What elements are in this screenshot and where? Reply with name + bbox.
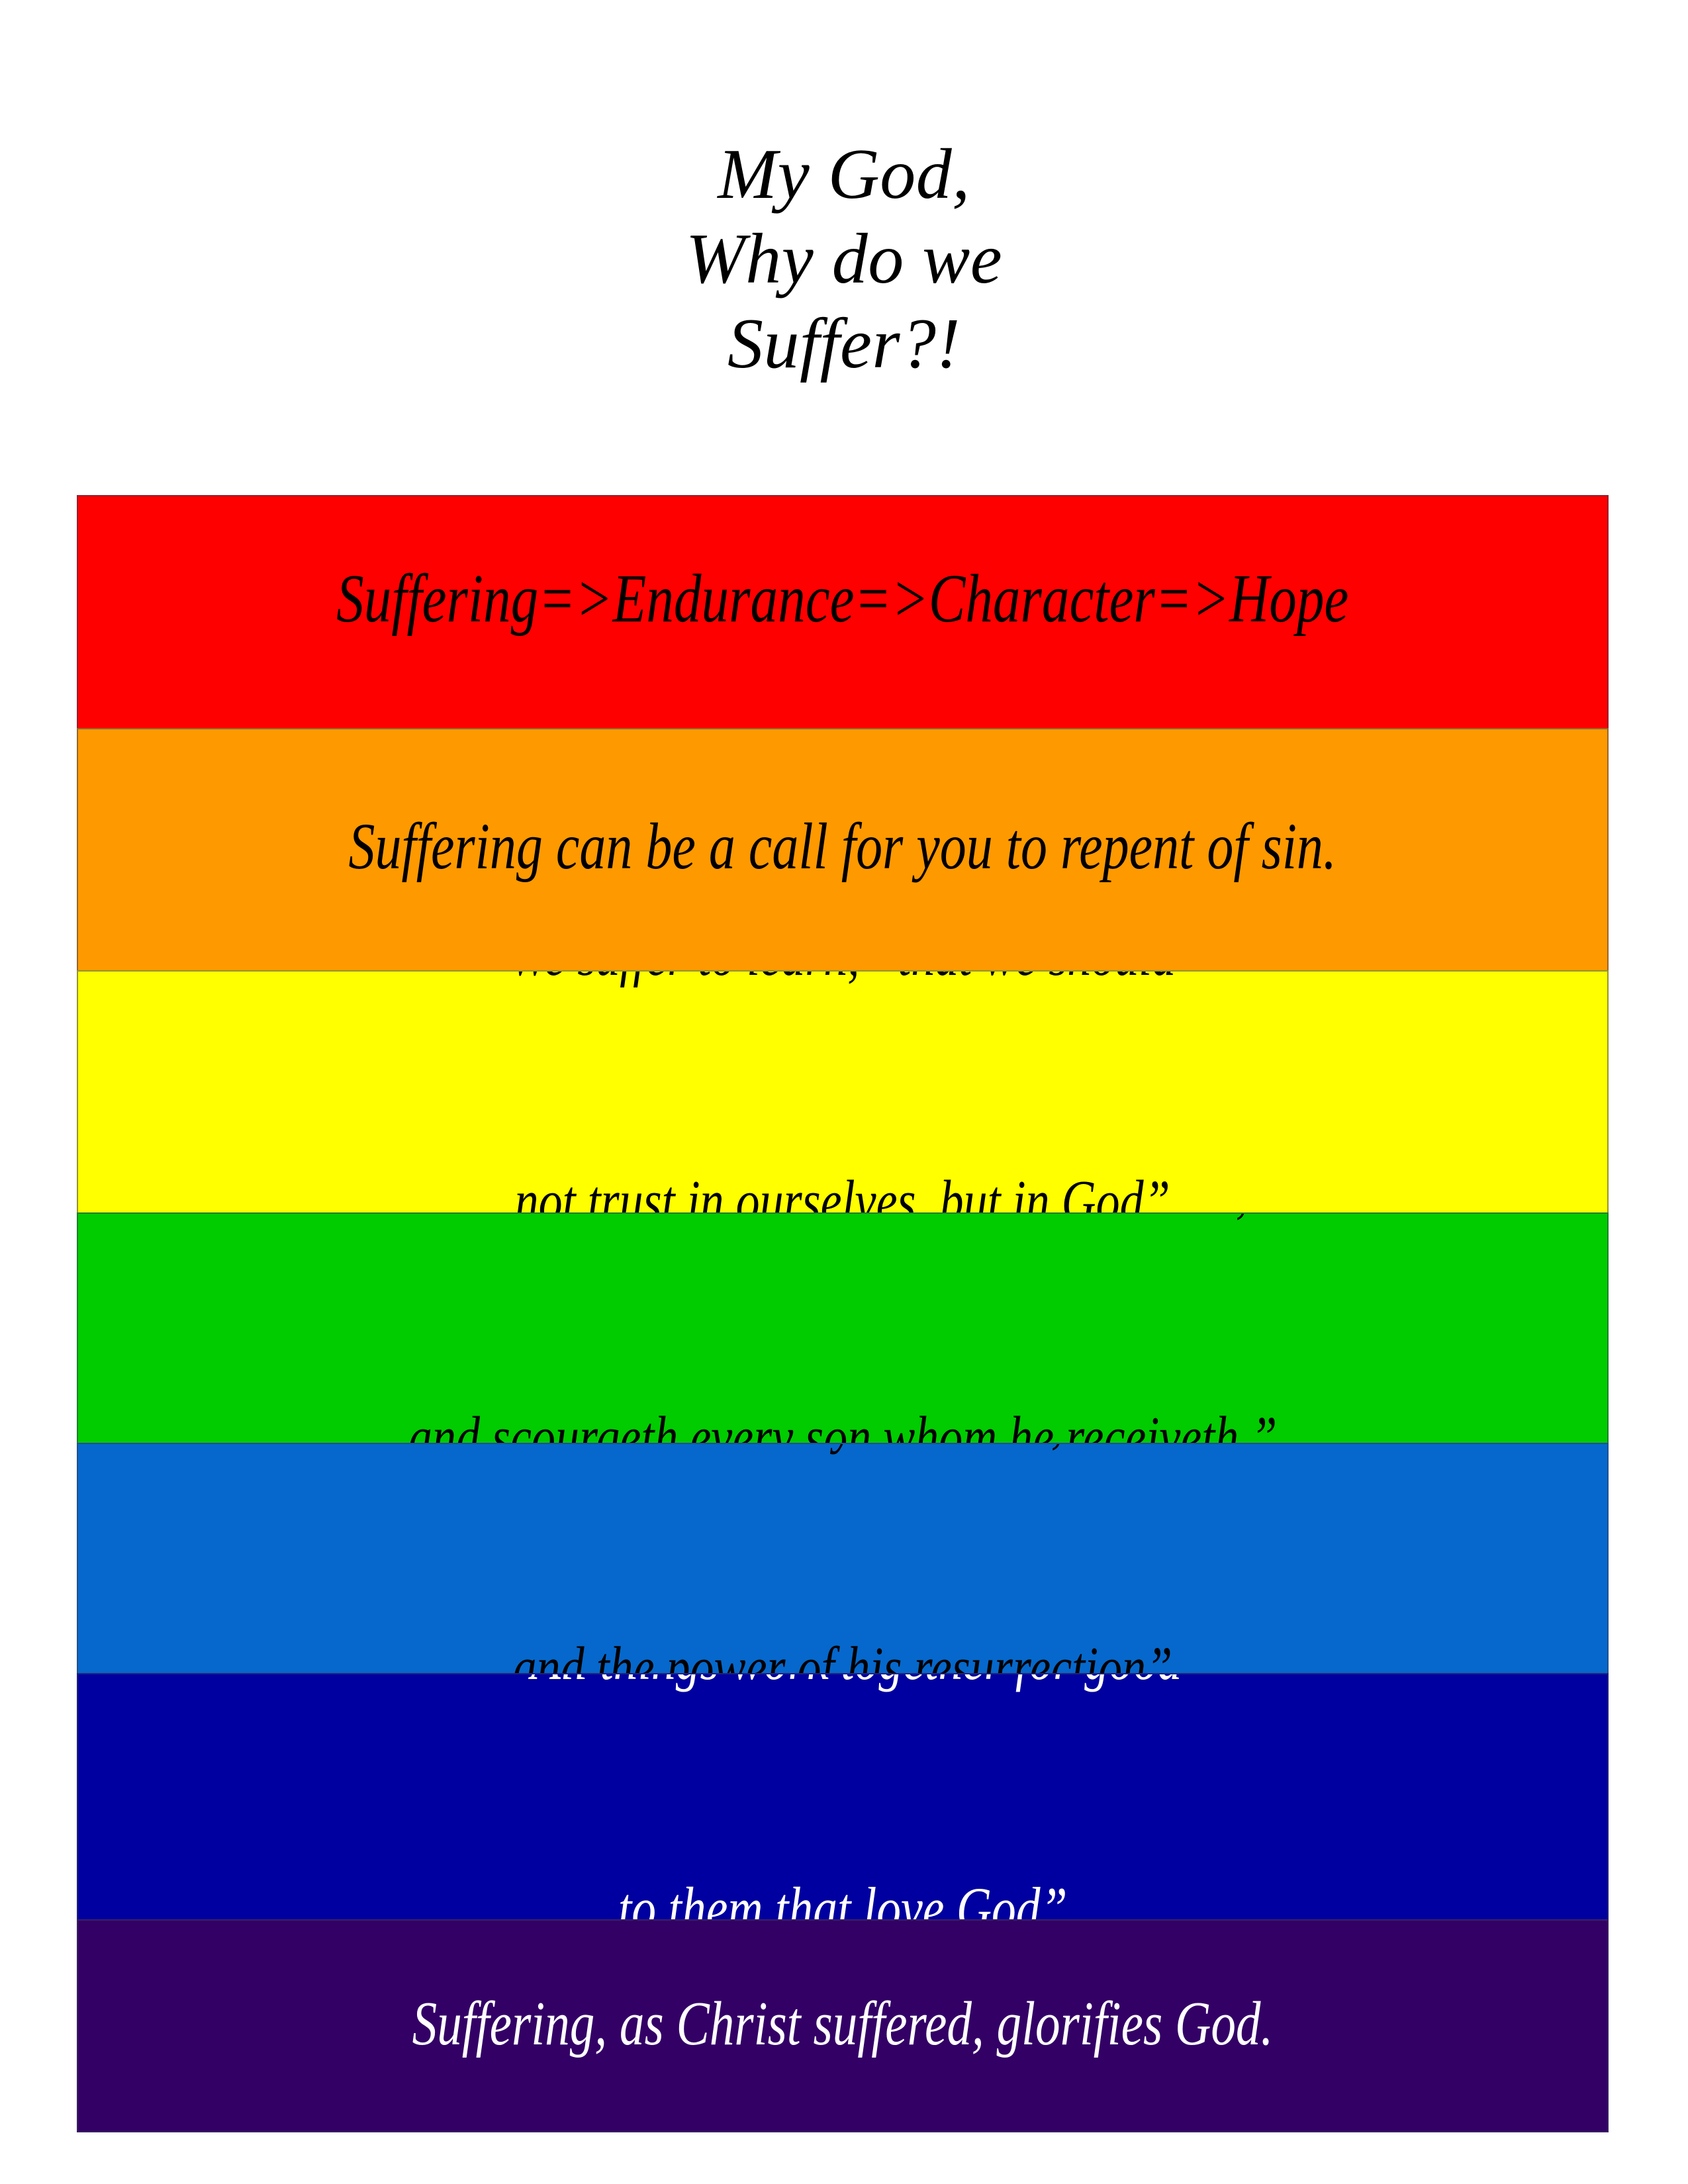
band-purple: Suffering, as Christ suffered, glorifies…: [77, 1919, 1609, 2132]
band-orange-text: Suffering can be a call for you to repen…: [349, 728, 1336, 970]
band-green: “For whom the Lord loveth he chasteneth,…: [77, 1212, 1609, 1443]
band-indigo: “All things work together for good to th…: [77, 1673, 1609, 1919]
band-indigo-line-2: to them that love God”: [504, 1867, 1182, 1919]
page-title: My God, Why do we Suffer?!: [0, 132, 1688, 387]
band-blue-line-1: “That I may know him,: [513, 1443, 1173, 1463]
band-yellow: We suffer to learn, “that we should not …: [77, 970, 1609, 1212]
band-red-line-1: Suffering=>Endurance=>Character=>Hope: [336, 561, 1348, 637]
band-purple-text: Suffering, as Christ suffered, glorifies…: [412, 1919, 1274, 2132]
rainbow-band-stack: Suffering=>Endurance=>Character=>Hope (R…: [77, 495, 1609, 2132]
band-yellow-line-1: We suffer to learn, “that we should: [509, 970, 1176, 997]
title-line-3: Suffer?!: [0, 302, 1688, 387]
band-red: Suffering=>Endurance=>Character=>Hope (R…: [77, 495, 1609, 728]
title-line-2: Why do we: [0, 217, 1688, 302]
band-orange-line-1: Suffering can be a call for you to repen…: [349, 809, 1336, 884]
band-blue-line-2: and the power of his resurrection”: [513, 1627, 1173, 1673]
band-blue: “That I may know him, and the power of h…: [77, 1443, 1609, 1673]
band-indigo-line-1: “All things work together for good: [504, 1673, 1182, 1700]
band-green-line-1: “For whom the Lord loveth he chasteneth,: [408, 1212, 1277, 1233]
band-yellow-line-2: not trust in ourselves, but in God”: [509, 1161, 1176, 1212]
title-line-1: My God,: [0, 132, 1688, 217]
band-red-text: Suffering=>Endurance=>Character=>Hope: [336, 495, 1348, 728]
band-yellow-text: We suffer to learn, “that we should not …: [509, 970, 1176, 1212]
band-blue-text: “That I may know him, and the power of h…: [513, 1443, 1173, 1673]
band-indigo-text: “All things work together for good to th…: [504, 1673, 1182, 1919]
band-purple-line-1: Suffering, as Christ suffered, glorifies…: [412, 1987, 1274, 2061]
band-green-line-2: and scourgeth every son whom he receivet…: [408, 1397, 1277, 1443]
band-orange: Suffering can be a call for you to repen…: [77, 728, 1609, 970]
band-green-text: “For whom the Lord loveth he chasteneth,…: [408, 1212, 1277, 1443]
